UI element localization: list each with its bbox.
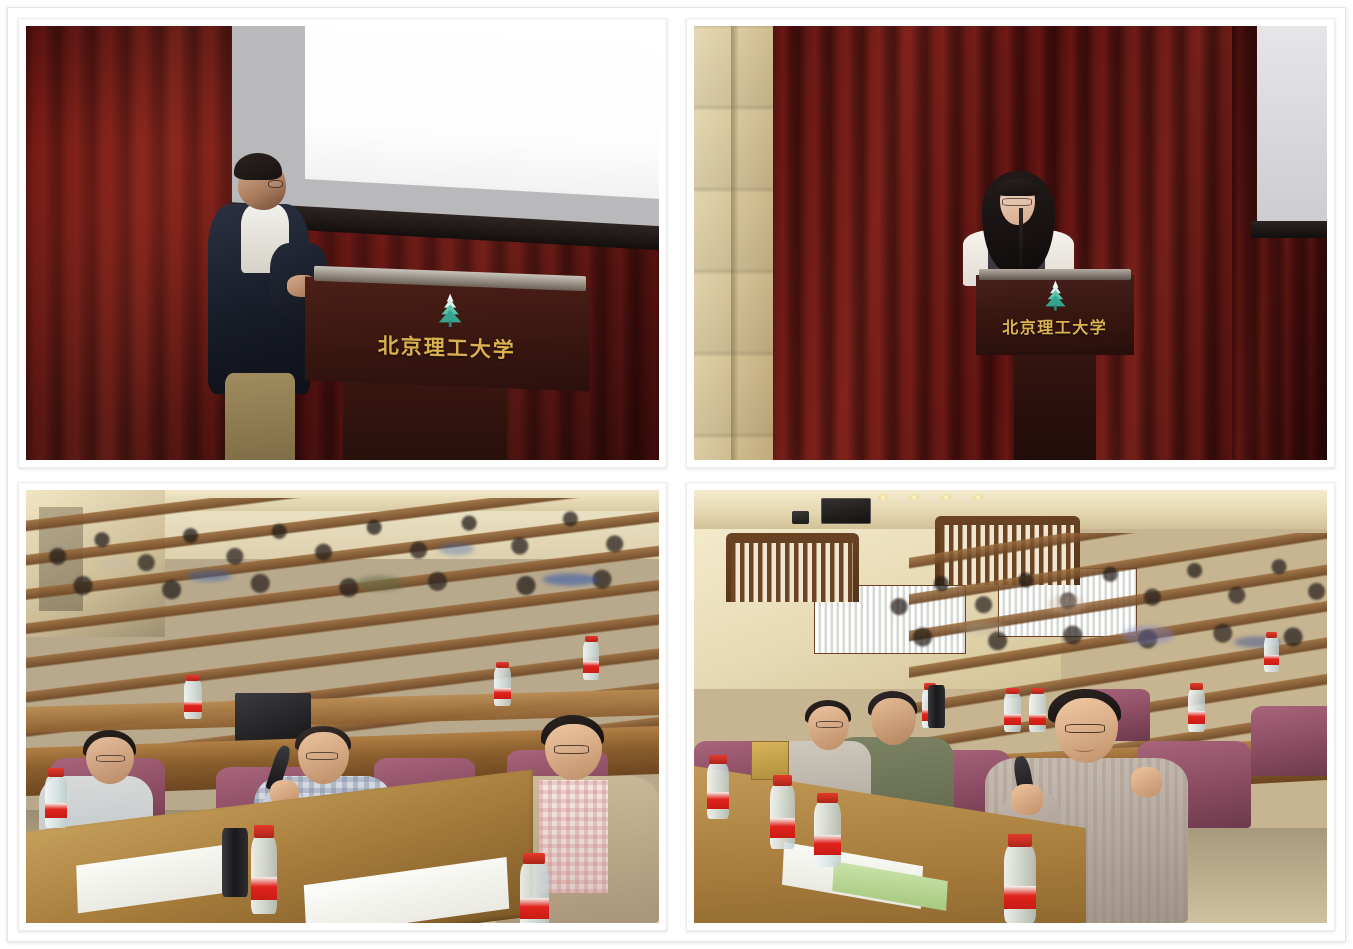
photo-top-left: 北京理工大学 (26, 26, 659, 460)
speaker-trousers (225, 373, 295, 460)
water-bottle (1264, 637, 1279, 672)
auditorium-seat (1251, 706, 1327, 775)
water-bottle (494, 667, 510, 706)
water-bottle (184, 680, 202, 719)
bottle-cap (585, 636, 598, 642)
podium-desktop (979, 269, 1131, 280)
photo-collage: 北京理工大学 (0, 0, 1353, 949)
bottle-label (520, 898, 549, 919)
bottle-label (1264, 655, 1279, 665)
bottle-cap (773, 775, 792, 785)
bottle-cap (48, 768, 64, 776)
photo-cell-bottom-left[interactable] (18, 482, 667, 932)
eyeglasses-icon (96, 755, 125, 762)
bottle-cap (1190, 683, 1203, 690)
questioner-raised-hand (1131, 767, 1163, 797)
wall-camera-icon (792, 511, 808, 524)
bottle-cap (1031, 688, 1044, 694)
bottle-cap (817, 793, 837, 803)
bottle-cap (1008, 834, 1032, 846)
ceiling-light-icon (973, 494, 983, 501)
water-bottle (1004, 845, 1036, 923)
bottle-cap (186, 675, 199, 681)
desk-nameplate (751, 741, 789, 780)
thermos-flask (222, 828, 247, 897)
water-bottle (814, 802, 841, 867)
water-bottle (1188, 689, 1206, 732)
bottle-label (1004, 886, 1036, 909)
bottle-cap (1266, 632, 1278, 638)
bottle-cap (254, 825, 274, 837)
questioner-hand (1011, 784, 1044, 814)
eyeglasses-icon (268, 180, 283, 187)
water-bottle (707, 763, 730, 819)
podium-nameplate-text: 北京理工大学 (355, 328, 539, 364)
ceiling-light-icon (878, 494, 888, 501)
water-bottle (1004, 693, 1020, 732)
eyeglasses-icon (1065, 724, 1106, 734)
bottle-label (707, 792, 730, 809)
photo-cell-top-left[interactable]: 北京理工大学 (18, 18, 667, 468)
eyeglasses-icon (816, 721, 843, 728)
wooden-window-frame (726, 533, 859, 602)
bottle-label (45, 803, 67, 819)
bottle-label (251, 877, 278, 900)
eyeglasses-icon (554, 745, 589, 754)
bottle-label (1188, 711, 1206, 724)
water-bottle (45, 776, 67, 828)
bottle-label (1004, 714, 1020, 726)
photo-cell-bottom-right[interactable] (686, 482, 1335, 932)
speaker-bangs (995, 179, 1039, 196)
audience-clothing-colors (26, 507, 659, 698)
water-bottle (1029, 693, 1045, 732)
water-bottle (520, 862, 549, 923)
water-bottle (583, 641, 599, 680)
attendee-right-shirt (539, 780, 609, 893)
bottle-cap (709, 755, 726, 764)
bottle-label (184, 701, 202, 713)
photo-top-right: 北京理工大学 (694, 26, 1327, 460)
stage-backdrop-bar (1251, 221, 1327, 238)
photo-bottom-right (694, 490, 1327, 924)
ceiling-light-icon (941, 494, 951, 501)
bottle-label (814, 835, 841, 855)
window-slats (731, 543, 853, 603)
bottle-label (770, 818, 795, 838)
bottle-label (1029, 714, 1045, 726)
bottle-label (583, 661, 599, 673)
water-bottle (770, 784, 795, 849)
photo-bottom-left (26, 490, 659, 924)
microphone-stand-icon (1019, 208, 1022, 269)
bit-pine-tree-logo-icon (1039, 280, 1072, 311)
podium-base (1014, 351, 1096, 459)
projector-screen-partial (1257, 26, 1327, 225)
podium-base (343, 377, 508, 459)
eyeglasses-icon (1002, 198, 1032, 206)
ceiling-light-icon (909, 494, 919, 501)
podium-nameplate-text: 北京理工大学 (976, 314, 1134, 338)
bit-pine-tree-logo-icon (428, 293, 472, 328)
water-bottle (251, 836, 278, 914)
photo-cell-top-right[interactable]: 北京理工大学 (686, 18, 1335, 468)
bottle-label (494, 688, 510, 700)
bottle-cap (523, 853, 545, 864)
thermos-flask (928, 685, 944, 728)
collage-frame: 北京理工大学 (7, 7, 1346, 942)
eyeglasses-icon (306, 752, 338, 760)
pillar-edge (731, 26, 738, 460)
bottle-cap (1006, 688, 1019, 694)
wall-monitor-icon (821, 498, 872, 524)
projector-screen (305, 26, 659, 202)
bottle-cap (496, 662, 509, 668)
